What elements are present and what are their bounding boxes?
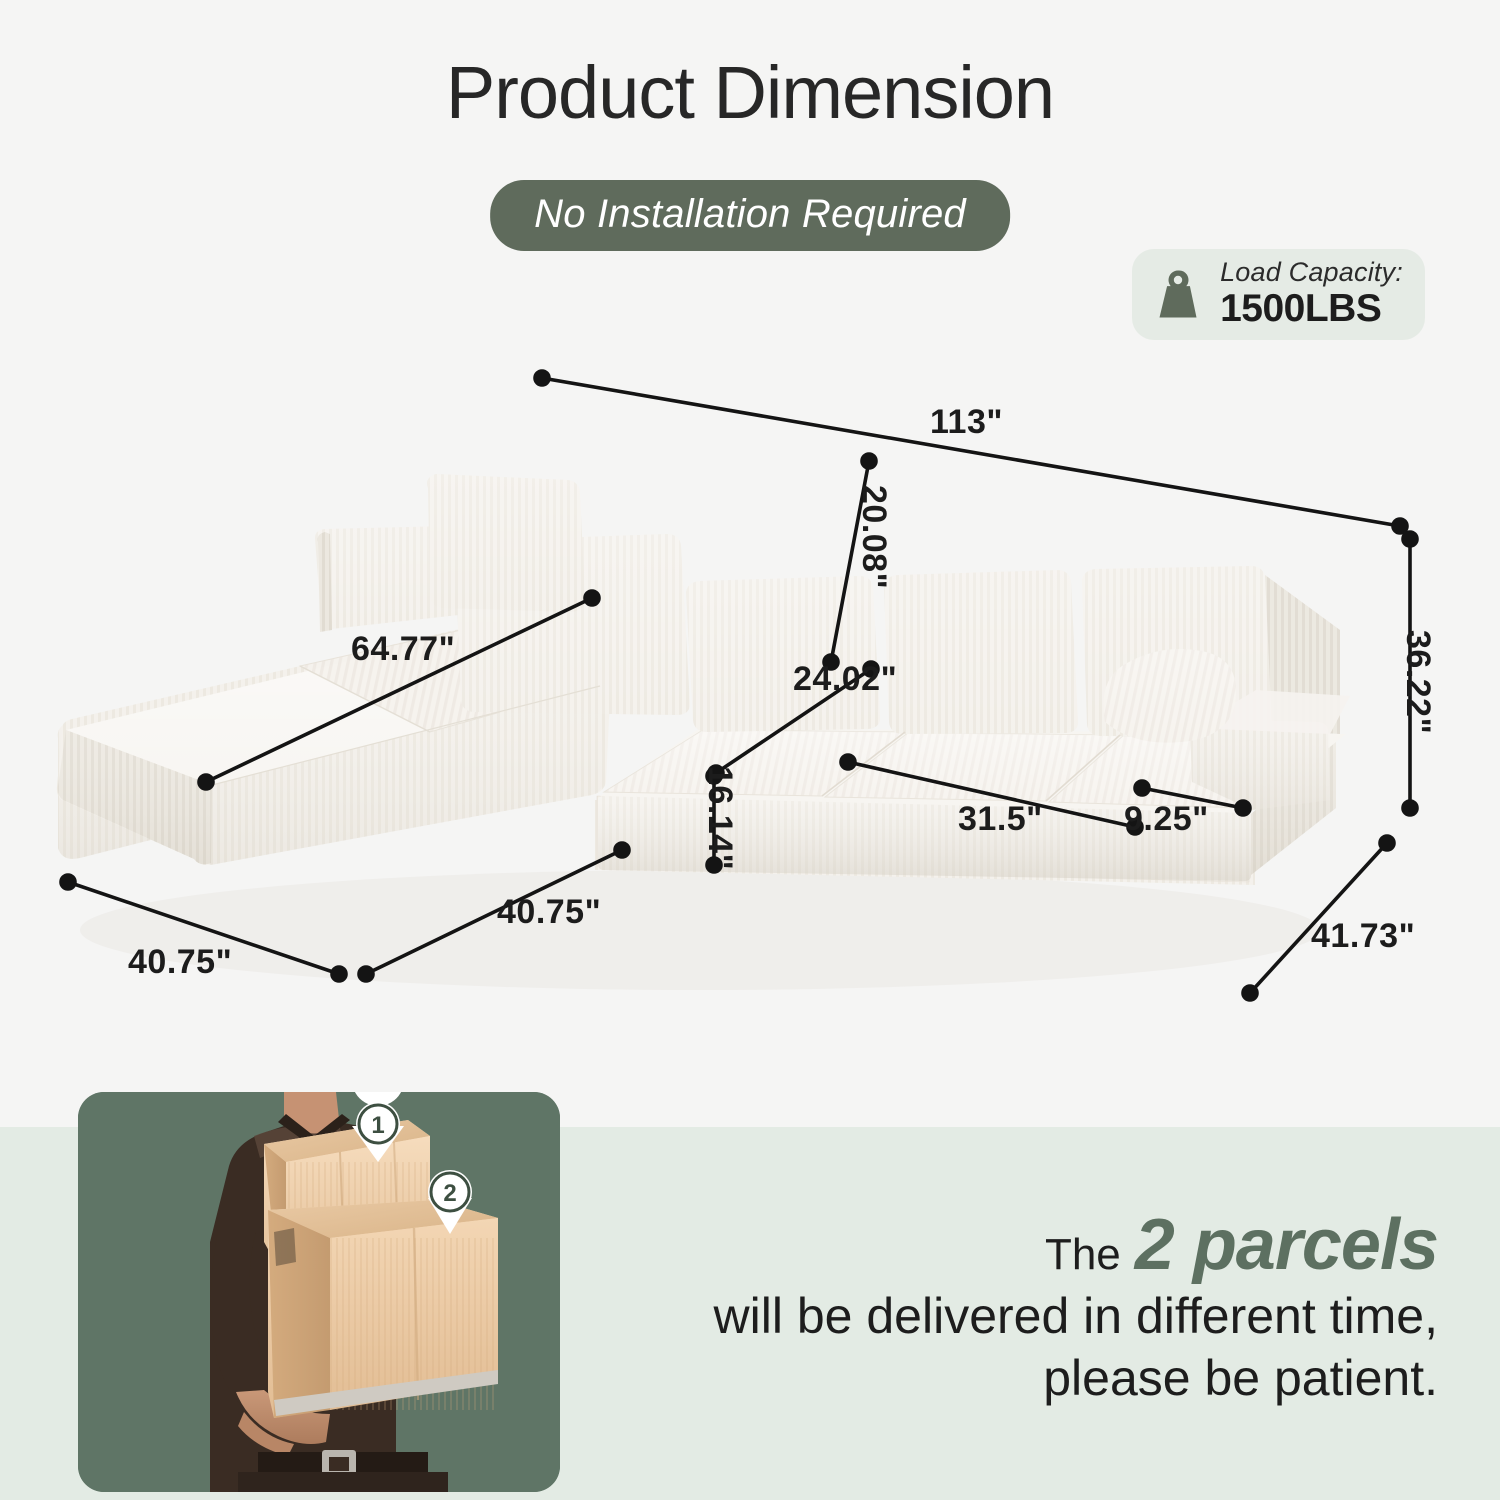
infographic-root: Product Dimension No Installation Requir… bbox=[0, 0, 1500, 1500]
delivery-message-line2: will be delivered in different time, bbox=[608, 1285, 1438, 1347]
no-installation-badge: No Installation Required bbox=[490, 180, 1010, 251]
page-title: Product Dimension bbox=[0, 52, 1500, 134]
dimension-label-seat-width: 31.5" bbox=[958, 800, 1043, 839]
svg-text:1: 1 bbox=[371, 1112, 384, 1139]
delivery-message: The2 parcels will be delivered in differ… bbox=[608, 1215, 1438, 1409]
dimension-label-chaise-width-front: 40.75" bbox=[128, 943, 232, 982]
load-capacity-badge: Load Capacity: 1500LBS bbox=[1132, 249, 1425, 340]
delivery-photo-illustration: 1 2 bbox=[78, 1092, 560, 1492]
dimension-label-back-height: 20.08" bbox=[854, 485, 893, 589]
delivery-message-highlight: 2 parcels bbox=[1121, 1205, 1438, 1285]
delivery-message-prefix: The bbox=[1045, 1230, 1121, 1279]
dimension-label-chaise-width-side: 40.75" bbox=[497, 893, 601, 932]
dimension-label-chaise-length: 64.77" bbox=[351, 630, 455, 669]
delivery-photo: 1 2 bbox=[78, 1092, 560, 1492]
dimension-label-seat-height: 16.14" bbox=[700, 766, 739, 870]
dimension-label-sofa-depth: 41.73" bbox=[1311, 917, 1415, 956]
delivery-message-line1: The2 parcels bbox=[608, 1215, 1438, 1285]
load-capacity-label: Load Capacity: bbox=[1220, 259, 1403, 286]
dimension-label-seat-depth: 24.02" bbox=[793, 660, 897, 699]
dimension-label-overall-width: 113" bbox=[930, 403, 1003, 442]
svg-text:2: 2 bbox=[443, 1180, 456, 1207]
dimension-label-arm-width: 9.25" bbox=[1124, 800, 1209, 839]
load-capacity-text: Load Capacity: 1500LBS bbox=[1220, 259, 1403, 328]
delivery-message-line3: please be patient. bbox=[608, 1347, 1438, 1409]
weight-icon bbox=[1150, 268, 1206, 320]
product-dimension-diagram: 113" 20.08" 24.02" 64.77" 16.14" 31.5" 9… bbox=[0, 330, 1500, 1070]
dimension-label-overall-height: 36.22" bbox=[1398, 630, 1437, 734]
load-capacity-value: 1500LBS bbox=[1220, 289, 1403, 328]
